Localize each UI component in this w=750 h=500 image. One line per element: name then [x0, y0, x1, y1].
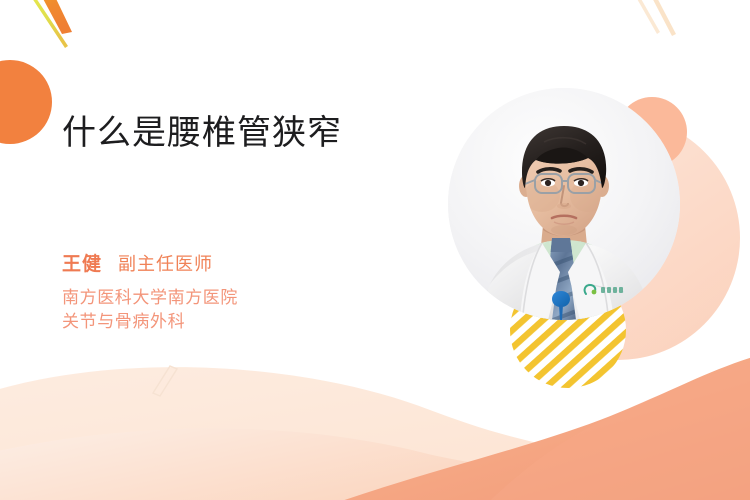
page-title: 什么是腰椎管狭窄 — [62, 110, 432, 156]
top-left-stroke-group — [24, 0, 72, 48]
top-right-cream-streaks — [632, 0, 676, 36]
doctor-title: 副主任医师 — [118, 250, 213, 276]
bottom-wave-group — [0, 352, 750, 500]
top-left-orange-wedge — [34, 0, 72, 34]
bottom-outline-slash — [153, 366, 177, 396]
doctor-intro-card: 什么是腰椎管狭窄 王健 副主任医师 南方医科大学南方医院 关节与骨病外科 — [0, 0, 750, 500]
portrait-illustration — [448, 88, 680, 320]
doctor-name: 王健 — [62, 249, 102, 276]
bottom-right-salmon-wave — [330, 352, 750, 500]
bottom-right-salmon-wave-inner — [470, 356, 750, 500]
affiliation-line-department: 关节与骨病外科 — [62, 310, 432, 334]
text-block: 什么是腰椎管狭窄 王健 副主任医师 南方医科大学南方医院 关节与骨病外科 — [62, 110, 432, 334]
bottom-mid-peach-wave — [0, 420, 750, 500]
doctor-affiliation: 南方医科大学南方医院 关节与骨病外科 — [62, 286, 432, 334]
affiliation-line-hospital: 南方医科大学南方医院 — [62, 286, 432, 310]
portrait-circle-mask — [448, 88, 680, 320]
left-orange-circle — [0, 60, 52, 144]
bottom-left-peach-wave — [0, 367, 750, 500]
doctor-portrait — [448, 88, 680, 320]
top-left-lime-line — [24, 0, 68, 48]
doctor-credential-row: 王健 副主任医师 — [62, 249, 432, 276]
